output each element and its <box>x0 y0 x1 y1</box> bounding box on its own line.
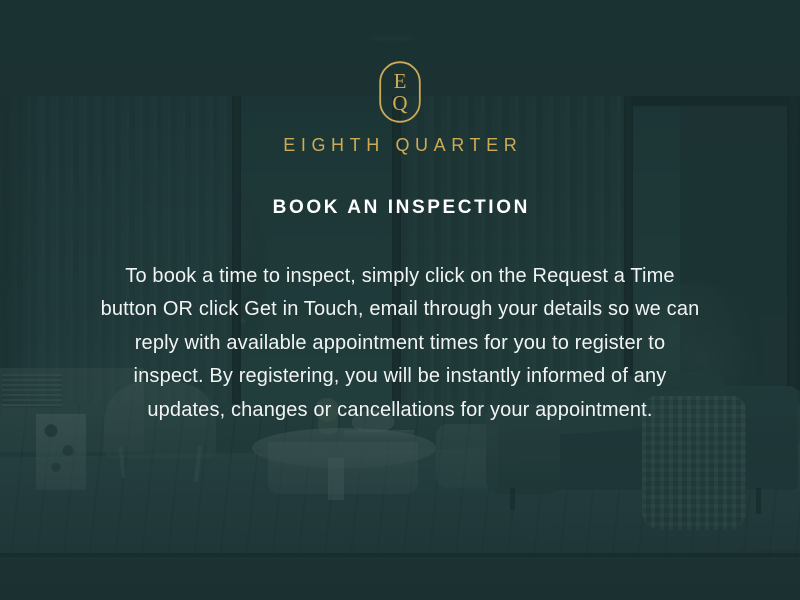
hero-body-text: To book a time to inspect, simply click … <box>100 260 700 428</box>
hero-content: E Q EIGHTH QUARTER BOOK AN INSPECTION To… <box>0 0 800 600</box>
brand-wordmark: EIGHTH QUARTER <box>278 136 523 154</box>
eighth-quarter-monogram-icon: E Q <box>378 60 422 124</box>
svg-text:E: E <box>394 69 407 93</box>
page-root: E Q EIGHTH QUARTER BOOK AN INSPECTION To… <box>0 0 800 600</box>
page-title: BOOK AN INSPECTION <box>270 198 530 217</box>
svg-text:Q: Q <box>392 91 407 115</box>
